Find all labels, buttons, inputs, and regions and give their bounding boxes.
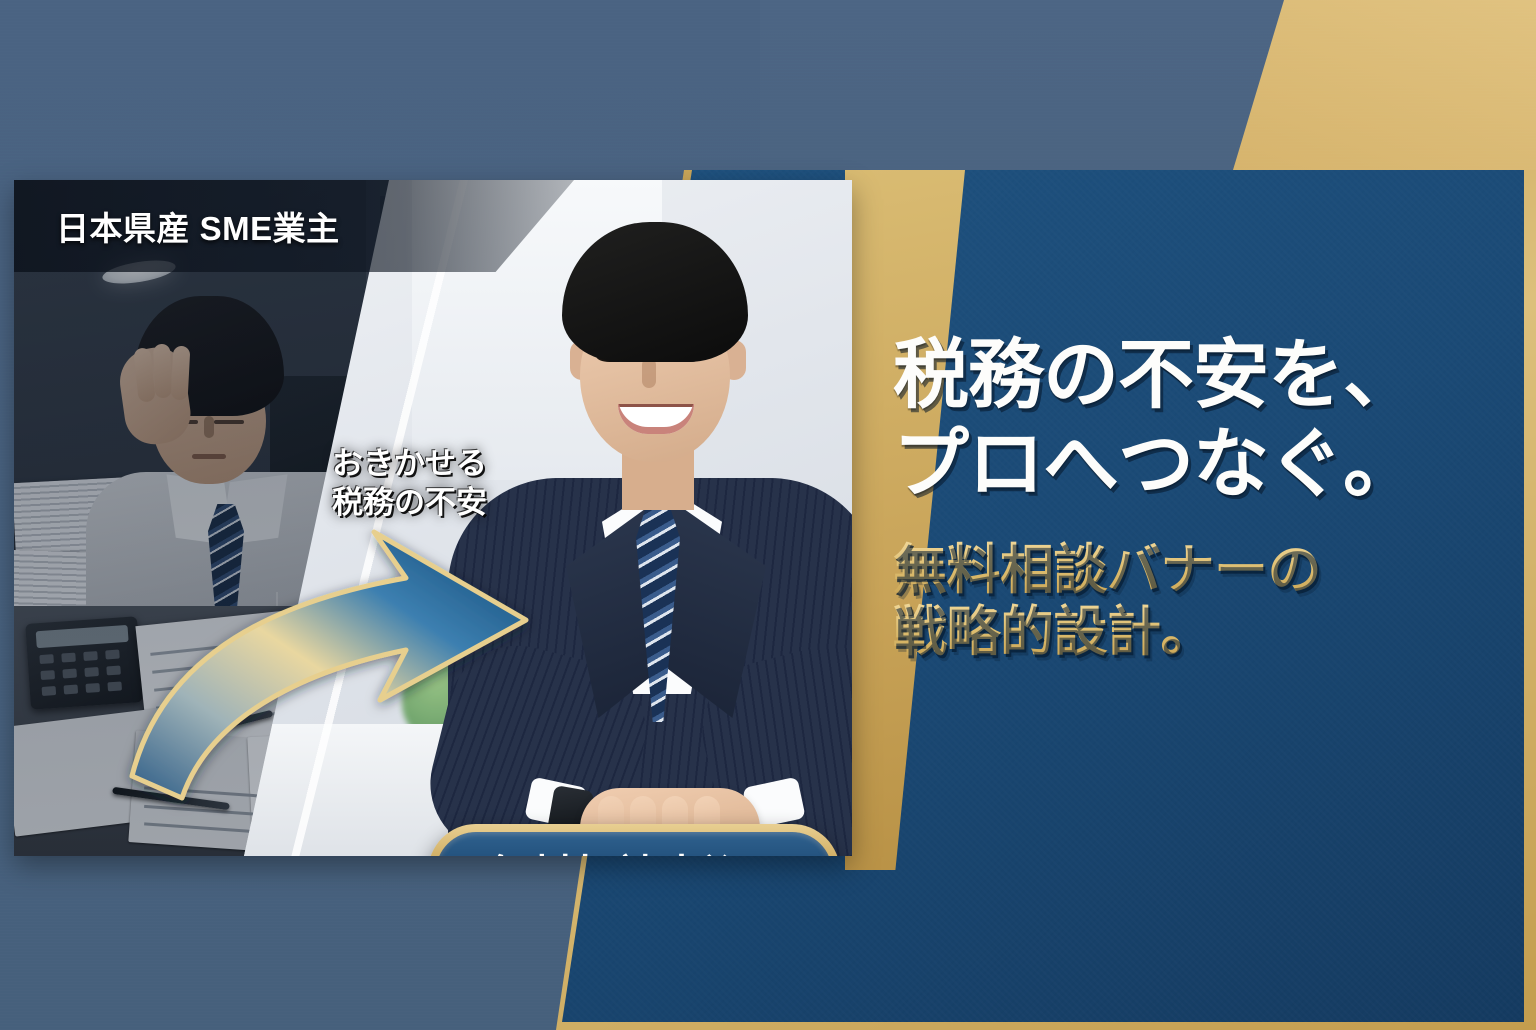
pain-point-text: おきかせる 税務の不安 — [332, 444, 487, 522]
nose — [642, 358, 656, 388]
tax-advisor — [484, 222, 844, 856]
pain-point-line-1: おきかせる — [332, 444, 487, 483]
hair — [562, 222, 748, 362]
poster-canvas: 税務の不安を、 プロへつなぐ。 無料相談バナーの 戦略的設計。 — [0, 0, 1536, 1030]
headline-line-2: プロへつなぐ。 — [893, 425, 1503, 504]
cta-label: 無料相談申込 — [489, 842, 747, 857]
subtitle-line-2: 戦略的設計。 — [893, 602, 1503, 664]
banner-tag-label: 日本県産 SME業主 — [56, 202, 340, 250]
cta-inner-surface: 無料相談申込 › — [436, 832, 832, 856]
ad-banner-card[interactable]: 日本県産 SME業主 おきかせる 税務の不安 無料相談申込 › — [14, 180, 852, 856]
chevron-right-icon: › — [767, 853, 780, 856]
subtitle-block: 無料相談バナーの 戦略的設計。 — [893, 540, 1503, 663]
free-consultation-cta-button[interactable]: 無料相談申込 › — [428, 824, 840, 856]
panel-copy-block: 税務の不安を、 プロへつなぐ。 無料相談バナーの 戦略的設計。 — [893, 336, 1503, 663]
headline-line-1: 税務の不安を、 — [893, 336, 1503, 415]
pain-point-line-2: 税務の不安 — [332, 483, 487, 522]
subtitle-line-1: 無料相談バナーの — [893, 540, 1503, 602]
